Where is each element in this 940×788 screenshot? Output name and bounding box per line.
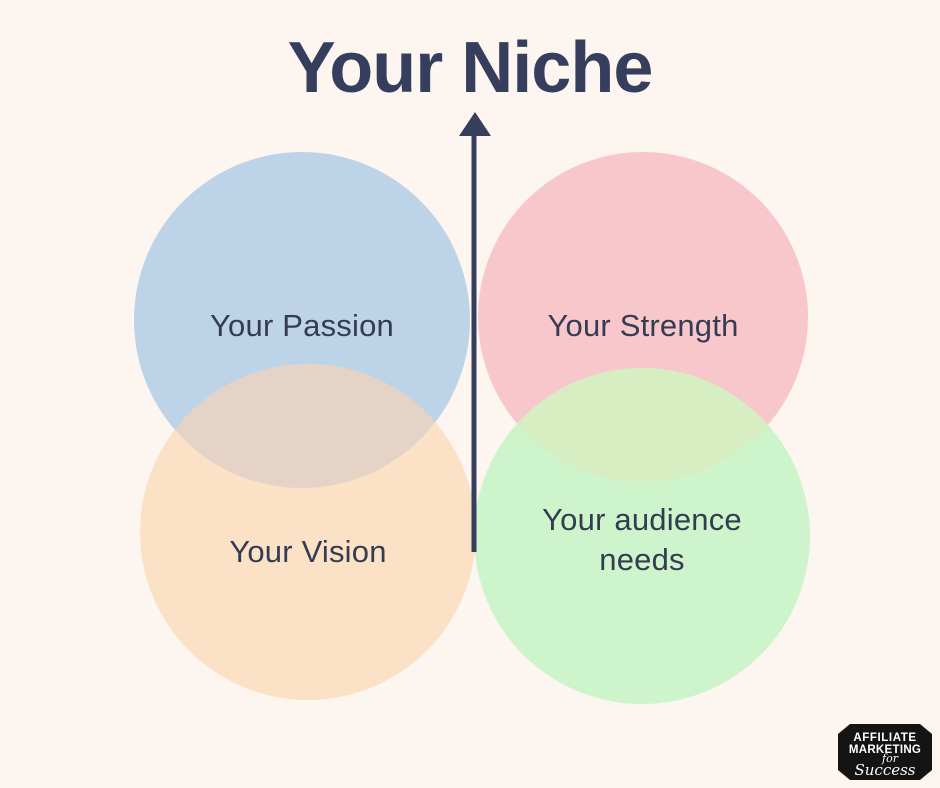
brand-line1: AFFILIATE <box>853 732 916 744</box>
venn-diagram: Your Passion Your Strength Your Vision Y… <box>0 0 940 788</box>
label-your-audience-needs: Your audience needs <box>474 500 810 579</box>
label-your-passion: Your Passion <box>134 306 470 346</box>
label-your-strength: Your Strength <box>478 306 808 346</box>
poster-canvas: Your Niche Your Passion Your Strength Yo… <box>0 0 940 788</box>
up-arrow-icon <box>452 112 498 552</box>
brand-logo[interactable]: AFFILIATE MARKETING for Success <box>836 722 934 782</box>
label-your-vision: Your Vision <box>140 532 476 572</box>
brand-script-success: Success <box>854 761 915 779</box>
